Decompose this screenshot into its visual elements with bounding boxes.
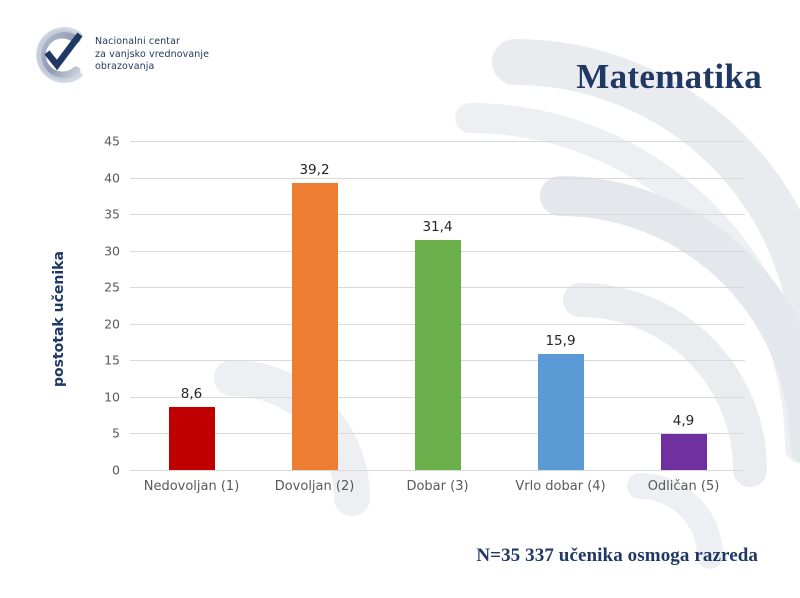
x-axis-category-label: Dovoljan (2)	[275, 479, 355, 494]
x-axis-category-label: Nedovoljan (1)	[144, 479, 240, 494]
gridline	[130, 470, 745, 471]
page-title: Matematika	[576, 57, 762, 97]
bar[interactable]	[292, 183, 338, 470]
y-axis-title: postotak učenika	[46, 239, 72, 399]
logo-wordmark: Nacionalni centar za vanjsko vrednovanje…	[95, 36, 209, 74]
bar-value-label: 8,6	[181, 386, 202, 402]
bar[interactable]	[661, 434, 707, 470]
y-axis-tick-label: 0	[86, 463, 120, 478]
bar-group: 15,9	[499, 141, 622, 470]
x-axis-category-label: Dobar (3)	[406, 479, 468, 494]
bar-group: 39,2	[253, 141, 376, 470]
y-axis-tick-label: 10	[86, 389, 120, 404]
y-axis-tick-label: 30	[86, 243, 120, 258]
y-axis-tick-label: 25	[86, 280, 120, 295]
bar-value-label: 15,9	[545, 333, 575, 349]
plot-area: 8,639,231,415,94,9	[130, 141, 745, 470]
bar-value-label: 31,4	[422, 219, 452, 235]
bar[interactable]	[538, 354, 584, 470]
bar-value-label: 39,2	[299, 162, 329, 178]
bar-group: 4,9	[622, 141, 745, 470]
y-axis-tick-label: 20	[86, 316, 120, 331]
y-axis-tick-labels: 051015202530354045	[86, 141, 120, 470]
bar[interactable]	[169, 407, 215, 470]
y-axis-tick-label: 35	[86, 207, 120, 222]
organization-logo: Nacionalni centar za vanjsko vrednovanje…	[30, 26, 209, 84]
y-axis-tick-label: 40	[86, 170, 120, 185]
y-axis-tick-label: 45	[86, 134, 120, 149]
sample-size-annotation: N=35 337 učenika osmoga razreda	[476, 545, 758, 567]
ncvvo-circle-check-icon	[30, 26, 88, 84]
y-axis-tick-label: 15	[86, 353, 120, 368]
x-axis-category-label: Odličan (5)	[648, 479, 720, 494]
bar-group: 31,4	[376, 141, 499, 470]
x-axis-category-label: Vrlo dobar (4)	[515, 479, 605, 494]
bar-value-label: 4,9	[673, 413, 694, 429]
y-axis-tick-label: 5	[86, 426, 120, 441]
bar[interactable]	[415, 240, 461, 470]
bar-group: 8,6	[130, 141, 253, 470]
